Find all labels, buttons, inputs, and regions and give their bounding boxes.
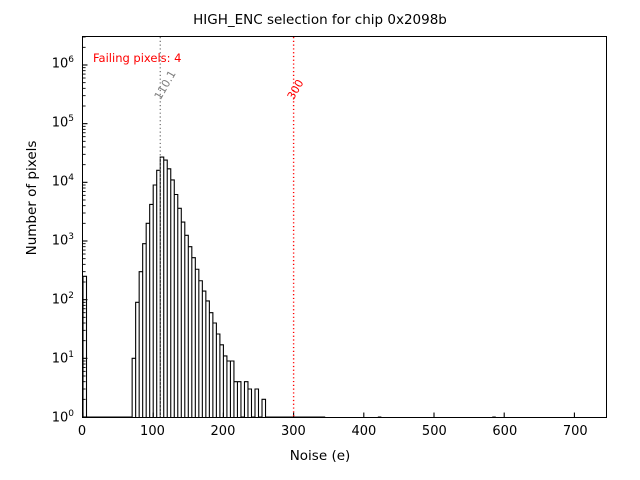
xtick-200: 200 [211, 424, 236, 439]
ytick-1e5: 105 [52, 116, 74, 131]
ytick-1e3: 103 [52, 234, 74, 249]
ytick-1e1: 101 [52, 352, 74, 367]
ytick-1e4: 104 [52, 175, 74, 190]
xtick-600: 600 [492, 424, 517, 439]
xtick-100: 100 [140, 424, 165, 439]
failing-pixels-annotation: Failing pixels: 4 [93, 51, 182, 65]
xtick-300: 300 [281, 424, 306, 439]
plot-area: Failing pixels: 4 110.1300 [82, 36, 607, 418]
ytick-1e6: 106 [52, 57, 74, 72]
chart-figure: HIGH_ENC selection for chip 0x2098b Numb… [0, 0, 640, 480]
xtick-400: 400 [351, 424, 376, 439]
x-axis-label: Noise (e) [0, 448, 640, 464]
y-axis-label: Number of pixels [24, 78, 40, 318]
histogram-step-line [83, 157, 496, 417]
ytick-1e0: 100 [52, 411, 74, 426]
chart-title: HIGH_ENC selection for chip 0x2098b [0, 12, 640, 28]
ytick-1e2: 102 [52, 293, 74, 308]
xtick-0: 0 [78, 424, 86, 439]
xtick-700: 700 [563, 424, 588, 439]
xtick-500: 500 [422, 424, 447, 439]
